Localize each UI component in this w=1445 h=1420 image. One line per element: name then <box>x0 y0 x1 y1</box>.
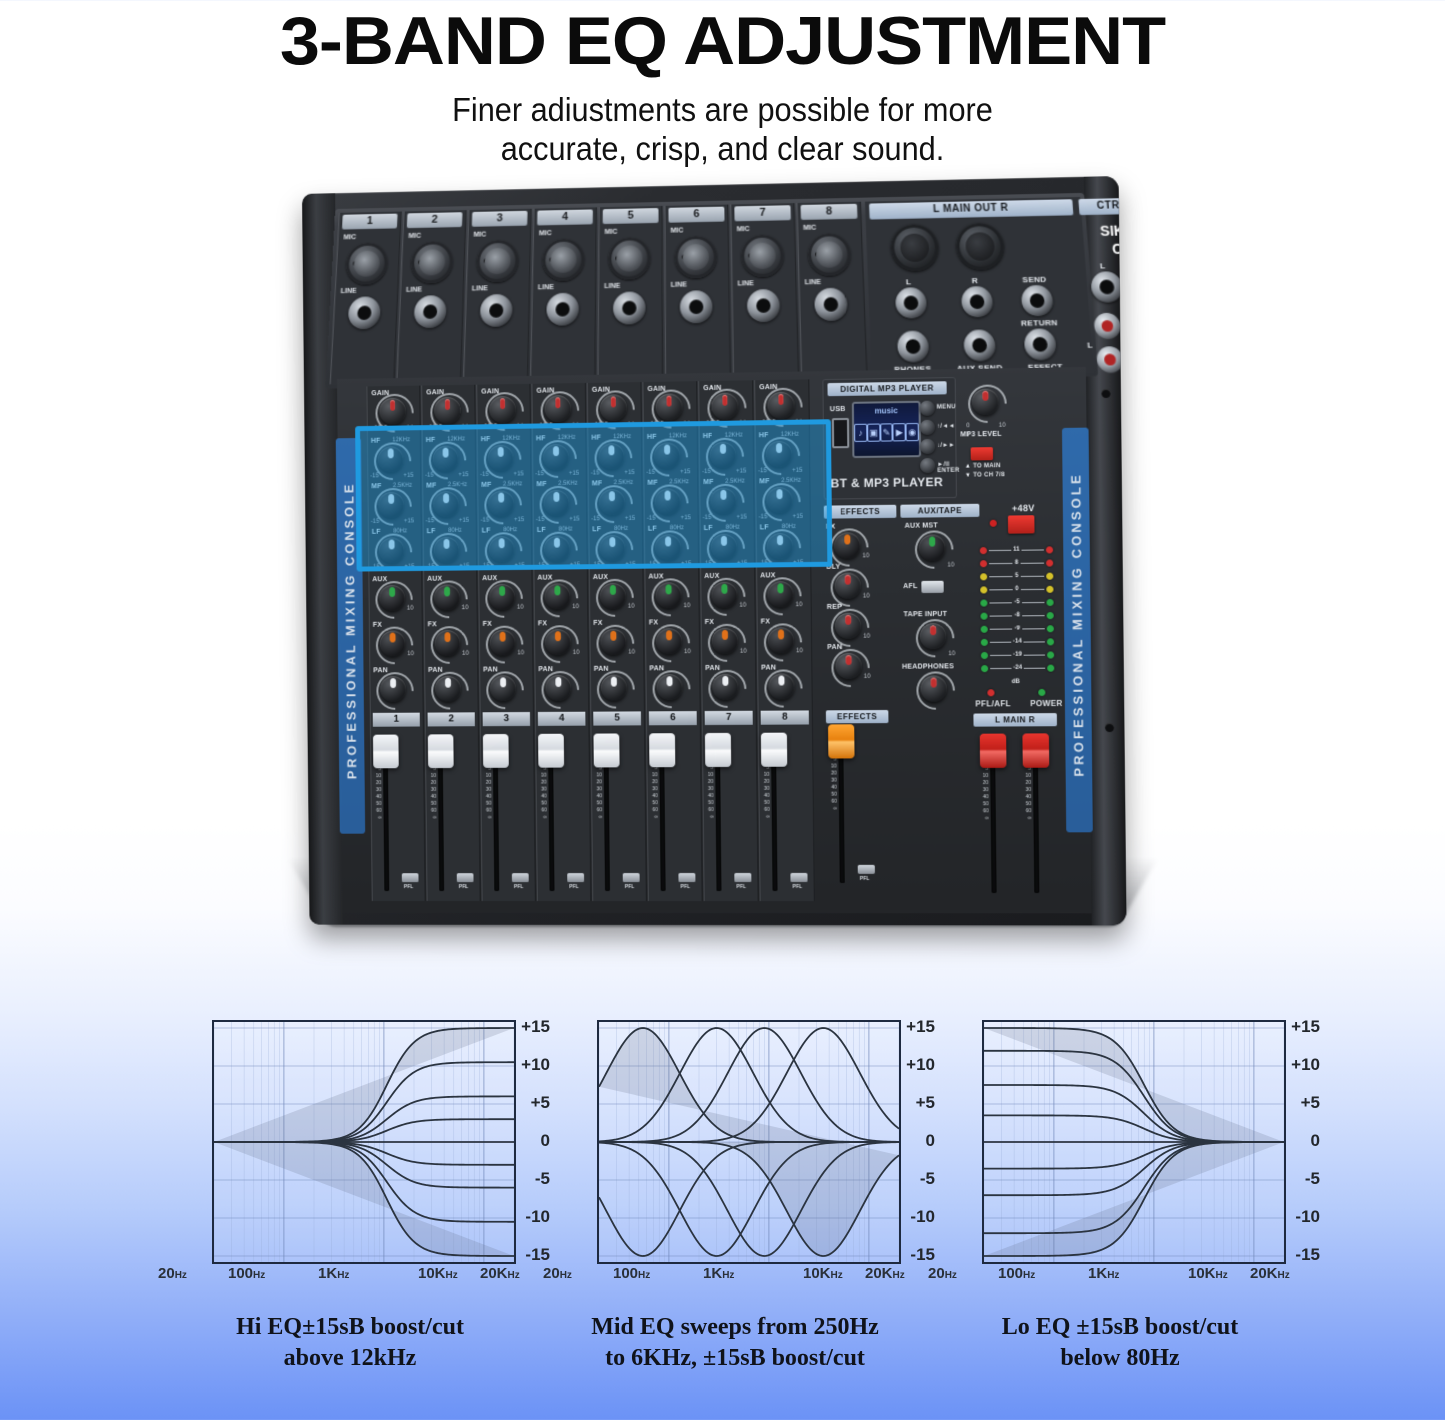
line-input-5[interactable] <box>613 291 645 324</box>
effects-pan-label: PAN <box>827 644 842 651</box>
chart-plot-area <box>212 1020 516 1264</box>
vu-led-right <box>1047 625 1054 632</box>
fader-scale-8: 5102030405060∞ <box>757 765 770 821</box>
gain-min-6: +20dB <box>647 422 665 428</box>
mixer-console: 1MICLINE2MICLINE3MICLINE4MICLINE5MICLINE… <box>302 176 1127 925</box>
xlr-pin <box>622 247 627 252</box>
channel-strip-2: GAIN+20dB+14HF12KHz-15+15MF2.5KHz-15+15L… <box>421 385 480 901</box>
vu-led-left <box>980 573 987 580</box>
effects-fx-label: FX <box>826 524 835 531</box>
fx-max-1: 10 <box>407 651 414 657</box>
main-fader-l-slot[interactable] <box>990 764 996 893</box>
mf-max-5: +15 <box>625 516 635 522</box>
fader-slot-5[interactable] <box>604 763 610 891</box>
gain-max-2: +14 <box>458 425 468 431</box>
x-axis-tick: 100Hz <box>613 1265 650 1282</box>
side-branding-right: PROFESSIONAL MIXING CONSOLE <box>1062 428 1093 833</box>
hf-min-4: -15 <box>535 471 544 477</box>
xlr-input-7[interactable] <box>741 234 784 277</box>
pfl-label-1: PFL <box>404 884 413 890</box>
return-label: RETURN <box>1021 318 1058 328</box>
vu-led-right <box>1046 572 1053 579</box>
line-label-3: LINE <box>472 285 488 292</box>
pfl-label-4: PFL <box>569 884 578 890</box>
channel-strip-3: GAIN+20dB+14HF12KHz-15+15MF2.5KHz-15+15L… <box>476 384 536 901</box>
fader-slot-1[interactable] <box>383 764 389 891</box>
effects-pfl-button[interactable] <box>858 865 875 874</box>
vu-dash-right <box>1024 641 1045 642</box>
mf-min-7: -15 <box>703 515 712 521</box>
mf-label-4: MF <box>536 481 546 488</box>
x-axis-tick: 1KHz <box>703 1265 734 1282</box>
effects-fader-cap[interactable] <box>828 724 855 758</box>
xlr-pin <box>762 253 767 258</box>
mf-max-3: +15 <box>514 517 524 523</box>
gain-min-1: +20dB <box>371 426 388 432</box>
x-axis-tick: 10KHz <box>418 1265 458 1282</box>
lf-label-1: LF <box>372 529 381 536</box>
caption-mid-eq-line1: Mid EQ sweeps from 250Hz <box>525 1312 945 1343</box>
mp3-button-1[interactable] <box>920 420 935 435</box>
lf-max-6: +15 <box>681 561 691 567</box>
hf-label-8: HF <box>759 432 769 439</box>
fader-number-2: 2 <box>428 712 475 726</box>
lf-min-8: -15 <box>759 560 768 566</box>
rear-channel-number-1: 1 <box>342 214 398 230</box>
brand-name: SIKUING <box>1076 221 1126 239</box>
vu-led-left <box>980 586 987 593</box>
caption-lo-eq: Lo EQ ±15sB boost/cut below 80Hz <box>910 1312 1330 1374</box>
vu-led-right <box>1047 664 1054 671</box>
vu-dash-right <box>1022 602 1045 603</box>
lf-label-6: LF <box>648 526 657 533</box>
mf-label-8: MF <box>759 478 770 485</box>
mf-min-2: -15 <box>426 518 435 524</box>
caption-mid-eq-line2: to 6KHz, ±15sB boost/cut <box>525 1343 945 1374</box>
mf-min-8: -15 <box>759 514 768 520</box>
vu-scale-value: -9 <box>1014 625 1020 631</box>
mp3-player-panel: DIGITAL MP3 PLAYERUSBmusic♪▣✎▶◉MENU↑/◄◄↓… <box>822 377 957 500</box>
x-axis-tick: 20KHz <box>1250 1265 1290 1282</box>
mp3-footer-label: BT & MP3 PLAYER <box>830 475 943 491</box>
vu-led-left <box>981 638 988 645</box>
x-axis-tick: 20Hz <box>543 1265 572 1282</box>
phones-jack[interactable] <box>897 331 930 363</box>
chart-svg <box>214 1022 514 1262</box>
vu-dash-left <box>989 549 1011 550</box>
xlr-pin <box>425 251 430 256</box>
fader-cap-4[interactable] <box>538 734 564 768</box>
xlr-input-1[interactable] <box>345 242 388 285</box>
rear-channel-4: 4MICLINE <box>530 207 597 381</box>
rear-channel-number-4: 4 <box>537 209 593 225</box>
hf-label-5: HF <box>591 435 601 442</box>
fader-number-3: 3 <box>483 712 530 726</box>
fader-number-4: 4 <box>538 712 586 726</box>
rear-channel-5: 5MICLINE <box>597 206 663 380</box>
hf-max-3: +15 <box>514 471 524 477</box>
fader-cap-6[interactable] <box>649 733 675 767</box>
fader-scale-4: 5102030405060∞ <box>534 766 546 822</box>
effects-pfl-label: PFL <box>860 876 870 882</box>
return-jack[interactable] <box>1023 328 1057 360</box>
gain-max-6: +14 <box>680 421 690 427</box>
effects-dly-max: 10 <box>863 594 870 600</box>
vu-dash-right <box>1022 615 1045 616</box>
lf-min-6: -15 <box>647 562 656 568</box>
xlr-pin <box>367 261 372 266</box>
aux-mst-max: 10 <box>947 563 954 569</box>
side-branding-left-text: PROFESSIONAL MIXING CONSOLE <box>341 433 360 829</box>
lf-label-2: LF <box>427 528 436 535</box>
xlr-pin <box>549 257 554 262</box>
line-label-6: LINE <box>671 282 687 289</box>
vu-dash-left <box>990 654 1011 655</box>
vu-led-right <box>1046 546 1053 553</box>
mf-min-3: -15 <box>481 518 490 524</box>
effects-fader-label: EFFECTS <box>826 710 889 723</box>
x-axis-tick: 1KHz <box>1088 1265 1119 1282</box>
vu-led-right <box>1047 651 1054 658</box>
vu-meter-row: 8 <box>980 558 1053 567</box>
main-out-jack-l[interactable] <box>895 287 927 318</box>
usb-port[interactable] <box>832 418 849 448</box>
lcd-menu-icon: ◉ <box>906 423 919 441</box>
fader-slot-2[interactable] <box>438 764 444 891</box>
fader-cap-3[interactable] <box>483 734 509 768</box>
fader-cap-7[interactable] <box>705 733 731 767</box>
afl-switch[interactable] <box>921 581 943 593</box>
line-input-7[interactable] <box>747 289 780 322</box>
fx-label-1: FX <box>373 622 382 629</box>
xlr-input-6[interactable] <box>675 236 718 279</box>
effects-rep-max: 10 <box>863 634 870 640</box>
vu-dash-right <box>1022 549 1044 550</box>
line-input-8[interactable] <box>814 288 848 321</box>
gain-max-8: +14 <box>792 420 802 426</box>
channel-strip-7: GAIN+20dB+14HF12KHz-15+15MF2.5KHz-15+15L… <box>698 380 758 901</box>
mic-label-6: MIC <box>671 227 684 234</box>
pfl-label-6: PFL <box>681 884 690 890</box>
fader-cap-8[interactable] <box>761 733 787 767</box>
main-out-xlr-r[interactable] <box>955 223 1005 271</box>
aux-send-jack[interactable] <box>963 329 996 361</box>
page-title: 3-BAND EQ ADJUSTMENT <box>0 4 1445 78</box>
vu-dash-left <box>990 667 1011 668</box>
mp3-button-label-2: ↓/►► <box>937 443 955 449</box>
gain-min-5: +20dB <box>591 422 608 428</box>
vu-led-left <box>981 665 988 672</box>
pfl-button-7[interactable] <box>734 873 751 882</box>
mf-max-1: +15 <box>404 518 414 524</box>
gain-max-5: +14 <box>624 422 634 428</box>
vu-led-left <box>980 612 987 619</box>
lf-min-4: -15 <box>536 563 545 569</box>
effects-fader-slot[interactable] <box>838 754 844 883</box>
fader-slot-4[interactable] <box>548 764 554 891</box>
lf-max-7: +15 <box>737 561 747 567</box>
fader-slot-6[interactable] <box>659 763 665 891</box>
rear-channel-number-5: 5 <box>603 208 659 224</box>
aux-max-3: 10 <box>517 605 524 611</box>
line-input-2[interactable] <box>414 295 447 328</box>
vu-scale-value: 11 <box>1013 547 1020 553</box>
main-out-l-label: L <box>906 277 912 286</box>
hf-label-2: HF <box>426 437 436 444</box>
line-label-4: LINE <box>538 284 554 291</box>
hf-min-1: -15 <box>370 473 379 479</box>
chart-plot-area <box>597 1020 901 1264</box>
x-axis-tick: 20KHz <box>480 1265 520 1282</box>
main-out-xlr-l[interactable] <box>890 224 939 271</box>
phantom-power-label: +48V <box>1012 503 1035 513</box>
vu-dash-left <box>989 602 1012 603</box>
xlr-pin <box>563 257 568 262</box>
model-name: CT-08 <box>1077 239 1126 257</box>
fader-slot-3[interactable] <box>493 764 499 891</box>
mf-label-5: MF <box>592 480 602 487</box>
line-input-1[interactable] <box>348 296 381 329</box>
line-input-3[interactable] <box>480 294 513 327</box>
hf-max-2: +15 <box>458 472 468 478</box>
vu-meter-row: -5 <box>980 598 1053 607</box>
vu-led-left <box>980 547 987 554</box>
gain-min-7: +20dB <box>703 421 721 427</box>
fader-cap-1[interactable] <box>373 735 399 769</box>
lcd-title: music <box>854 406 919 416</box>
fader-scale-3: 5102030405060∞ <box>479 766 491 822</box>
xlr-pin <box>498 258 503 263</box>
mf-min-4: -15 <box>536 517 545 523</box>
pfl-button-3[interactable] <box>512 873 529 882</box>
hf-min-5: -15 <box>591 470 600 476</box>
hf-max-5: +15 <box>624 470 634 476</box>
fader-cap-2[interactable] <box>428 734 454 768</box>
rear-channel-number-6: 6 <box>668 207 724 223</box>
fx-max-2: 10 <box>462 651 469 657</box>
xlr-input-5[interactable] <box>608 237 650 280</box>
lf-max-5: +15 <box>625 562 635 568</box>
gain-min-3: +20dB <box>481 424 498 430</box>
lf-label-8: LF <box>760 524 769 531</box>
vu-scale-value: -19 <box>1013 652 1022 658</box>
mp3-route-switch[interactable] <box>971 447 993 460</box>
mp3-panel-label: DIGITAL MP3 PLAYER <box>827 381 946 396</box>
gain-min-2: +20dB <box>426 425 443 431</box>
mf-min-5: -15 <box>591 516 600 522</box>
fader-number-8: 8 <box>761 710 809 724</box>
hf-min-6: -15 <box>646 470 655 476</box>
channel-strip-6: GAIN+20dB+14HF12KHz-15+15MF2.5KHz-15+15L… <box>642 381 702 901</box>
lcd-icon-row: ♪▣✎▶◉ <box>854 423 919 442</box>
fader-scale-2: 5102030405060∞ <box>424 766 436 822</box>
mp3-level-max: 10 <box>999 423 1006 429</box>
line-label-2: LINE <box>406 287 422 294</box>
hf-max-7: +15 <box>736 469 746 475</box>
aux-max-6: 10 <box>684 603 691 609</box>
subtitle-line-2: accurate, crisp, and clear sound. <box>51 129 1395 168</box>
mp3-lcd-display: music♪▣✎▶◉ <box>852 401 921 458</box>
vu-led-right <box>1046 585 1053 592</box>
lf-label-4: LF <box>537 527 546 534</box>
fader-cap-5[interactable] <box>593 733 619 767</box>
side-branding-left: PROFESSIONAL MIXING CONSOLE <box>336 438 365 834</box>
gain-min-8: +20dB <box>759 420 777 426</box>
vu-led-left <box>981 651 988 658</box>
vu-meter-row: -14 <box>981 637 1054 646</box>
caption-lo-eq-line2: below 80Hz <box>910 1343 1330 1374</box>
caption-hi-eq-line2: above 12kHz <box>140 1343 560 1374</box>
fx-max-5: 10 <box>628 650 635 656</box>
pfl-button-2[interactable] <box>457 873 474 882</box>
lf-max-1: +15 <box>404 564 414 570</box>
xlr-pin <box>360 253 365 258</box>
xlr-input-8[interactable] <box>807 233 851 276</box>
vu-scale-value: -5 <box>1014 599 1020 605</box>
mic-label-3: MIC <box>473 231 486 238</box>
lf-label-3: LF <box>482 527 491 534</box>
xlr-input-4[interactable] <box>542 238 585 281</box>
hf-label-3: HF <box>481 436 491 443</box>
hf-label-4: HF <box>536 435 546 442</box>
fader-scale-7: 5102030405060∞ <box>701 765 714 821</box>
x-axis-tick: 10KHz <box>1188 1265 1228 1282</box>
xlr-pin <box>748 253 753 258</box>
fx-max-7: 10 <box>740 649 747 655</box>
vu-led-left <box>980 599 987 606</box>
xlr-pin <box>484 258 489 263</box>
vu-scale-value: 0 <box>1015 586 1018 592</box>
fader-slot-8[interactable] <box>771 763 777 891</box>
vu-dash-left <box>989 576 1013 577</box>
side-branding-right-text: PROFESSIONAL MIXING CONSOLE <box>1068 422 1088 827</box>
lf-min-5: -15 <box>592 562 601 568</box>
tape-input-max: 10 <box>948 651 955 657</box>
fader-scale-6: 5102030405060∞ <box>645 765 658 821</box>
caption-hi-eq: Hi EQ±15sB boost/cut above 12kHz <box>140 1312 560 1374</box>
tape-input-label: TAPE INPUT <box>903 611 947 618</box>
main-out-r-label: R <box>972 276 979 285</box>
xlr-pin <box>815 252 820 257</box>
vu-dash-right <box>1022 628 1045 629</box>
pfl-button-8[interactable] <box>790 873 807 882</box>
mp3-button-label-0: MENU <box>937 404 956 410</box>
fx-label-6: FX <box>649 619 658 626</box>
pfl-button-1[interactable] <box>402 873 419 882</box>
hf-min-7: -15 <box>702 469 711 475</box>
gain-max-3: +14 <box>513 424 523 430</box>
main-fader-r-cap[interactable] <box>1022 733 1049 767</box>
chart-plot-area <box>982 1020 1286 1264</box>
ctrl-room-l-label: L <box>1100 261 1106 270</box>
fader-number-7: 7 <box>705 711 753 725</box>
lf-min-3: -15 <box>481 563 490 569</box>
vu-meter-row: -8 <box>980 611 1053 620</box>
line-input-6[interactable] <box>680 290 713 323</box>
send-jack[interactable] <box>1021 285 1054 317</box>
mf-max-2: +15 <box>459 518 469 524</box>
vu-led-right <box>1047 638 1054 645</box>
main-out-jack-r[interactable] <box>961 286 994 318</box>
ctrl-room-label: CTRL ROOM <box>1078 197 1126 215</box>
aux-max-5: 10 <box>628 604 635 610</box>
fx-label-4: FX <box>538 620 547 627</box>
gain-max-4: +14 <box>568 423 578 429</box>
vu-led-right <box>1046 559 1053 566</box>
usb-label: USB <box>830 406 846 413</box>
xlr-input-2[interactable] <box>410 241 453 284</box>
channel-strip-4: GAIN+20dB+14HF12KHz-15+15MF2.5KHz-15+15L… <box>531 383 591 901</box>
fx-max-6: 10 <box>684 649 691 655</box>
line-label-1: LINE <box>340 288 356 295</box>
pfl-afl-label: PFL/AFL <box>975 699 1011 708</box>
fx-label-2: FX <box>428 621 437 628</box>
xlr-pin <box>432 259 437 264</box>
mic-label-1: MIC <box>343 234 356 241</box>
xlr-pin <box>755 245 760 250</box>
fx-max-3: 10 <box>517 650 524 656</box>
mp3-button-3[interactable] <box>920 458 935 473</box>
lf-max-2: +15 <box>459 563 469 569</box>
mf-label-3: MF <box>481 482 491 489</box>
mp3-button-2[interactable] <box>920 439 935 454</box>
xlr-pin <box>556 249 561 254</box>
rear-channel-7: 7MICLINE <box>730 203 799 378</box>
xlr-input-3[interactable] <box>476 240 519 283</box>
hf-max-4: +15 <box>569 471 579 477</box>
vu-dash-right <box>1024 667 1045 668</box>
vu-scale-value: -8 <box>1014 612 1020 618</box>
fader-scale-5: 5102030405060∞ <box>590 765 602 821</box>
fx-max-8: 10 <box>796 648 803 654</box>
xlr-pin <box>491 250 496 255</box>
main-fader-r-slot[interactable] <box>1033 764 1039 893</box>
mp3-button-label-3: ►/II ENTER <box>937 462 959 474</box>
mf-max-6: +15 <box>681 515 691 521</box>
mf-label-1: MF <box>371 483 381 490</box>
xlr-pin <box>615 256 620 261</box>
pfl-label-5: PFL <box>625 884 634 890</box>
fader-number-6: 6 <box>649 711 697 725</box>
pfl-button-4[interactable] <box>567 873 584 882</box>
effects-pan-max: 10 <box>864 674 871 680</box>
aux-max-4: 10 <box>572 604 579 610</box>
mp3-button-0[interactable] <box>919 401 934 416</box>
vu-scale-value: 5 <box>1015 573 1018 579</box>
fader-slot-7[interactable] <box>715 763 721 891</box>
headphones-ring <box>908 664 962 718</box>
line-label-5: LINE <box>604 283 620 290</box>
hf-label-7: HF <box>703 433 713 440</box>
phantom-power-switch[interactable] <box>1008 515 1035 533</box>
vu-meter-row: -19 <box>981 650 1054 659</box>
pfl-afl-led <box>987 689 994 696</box>
line-input-4[interactable] <box>546 293 579 326</box>
vu-dash-left <box>990 615 1013 616</box>
gain-max-1: +14 <box>403 425 413 431</box>
main-fader-l-cap[interactable] <box>980 734 1007 768</box>
lcd-menu-icon: ▣ <box>867 424 880 442</box>
vu-scale-value: -14 <box>1013 639 1022 645</box>
chart-svg <box>984 1022 1284 1262</box>
hf-min-8: -15 <box>758 468 767 474</box>
pfl-button-6[interactable] <box>678 873 695 882</box>
pfl-button-5[interactable] <box>623 873 640 882</box>
vu-scale-value: 8 <box>1015 560 1018 566</box>
rear-channel-1: 1MICLINE <box>330 212 402 385</box>
vu-led-right <box>1046 598 1053 605</box>
rear-channel-number-3: 3 <box>472 211 528 227</box>
